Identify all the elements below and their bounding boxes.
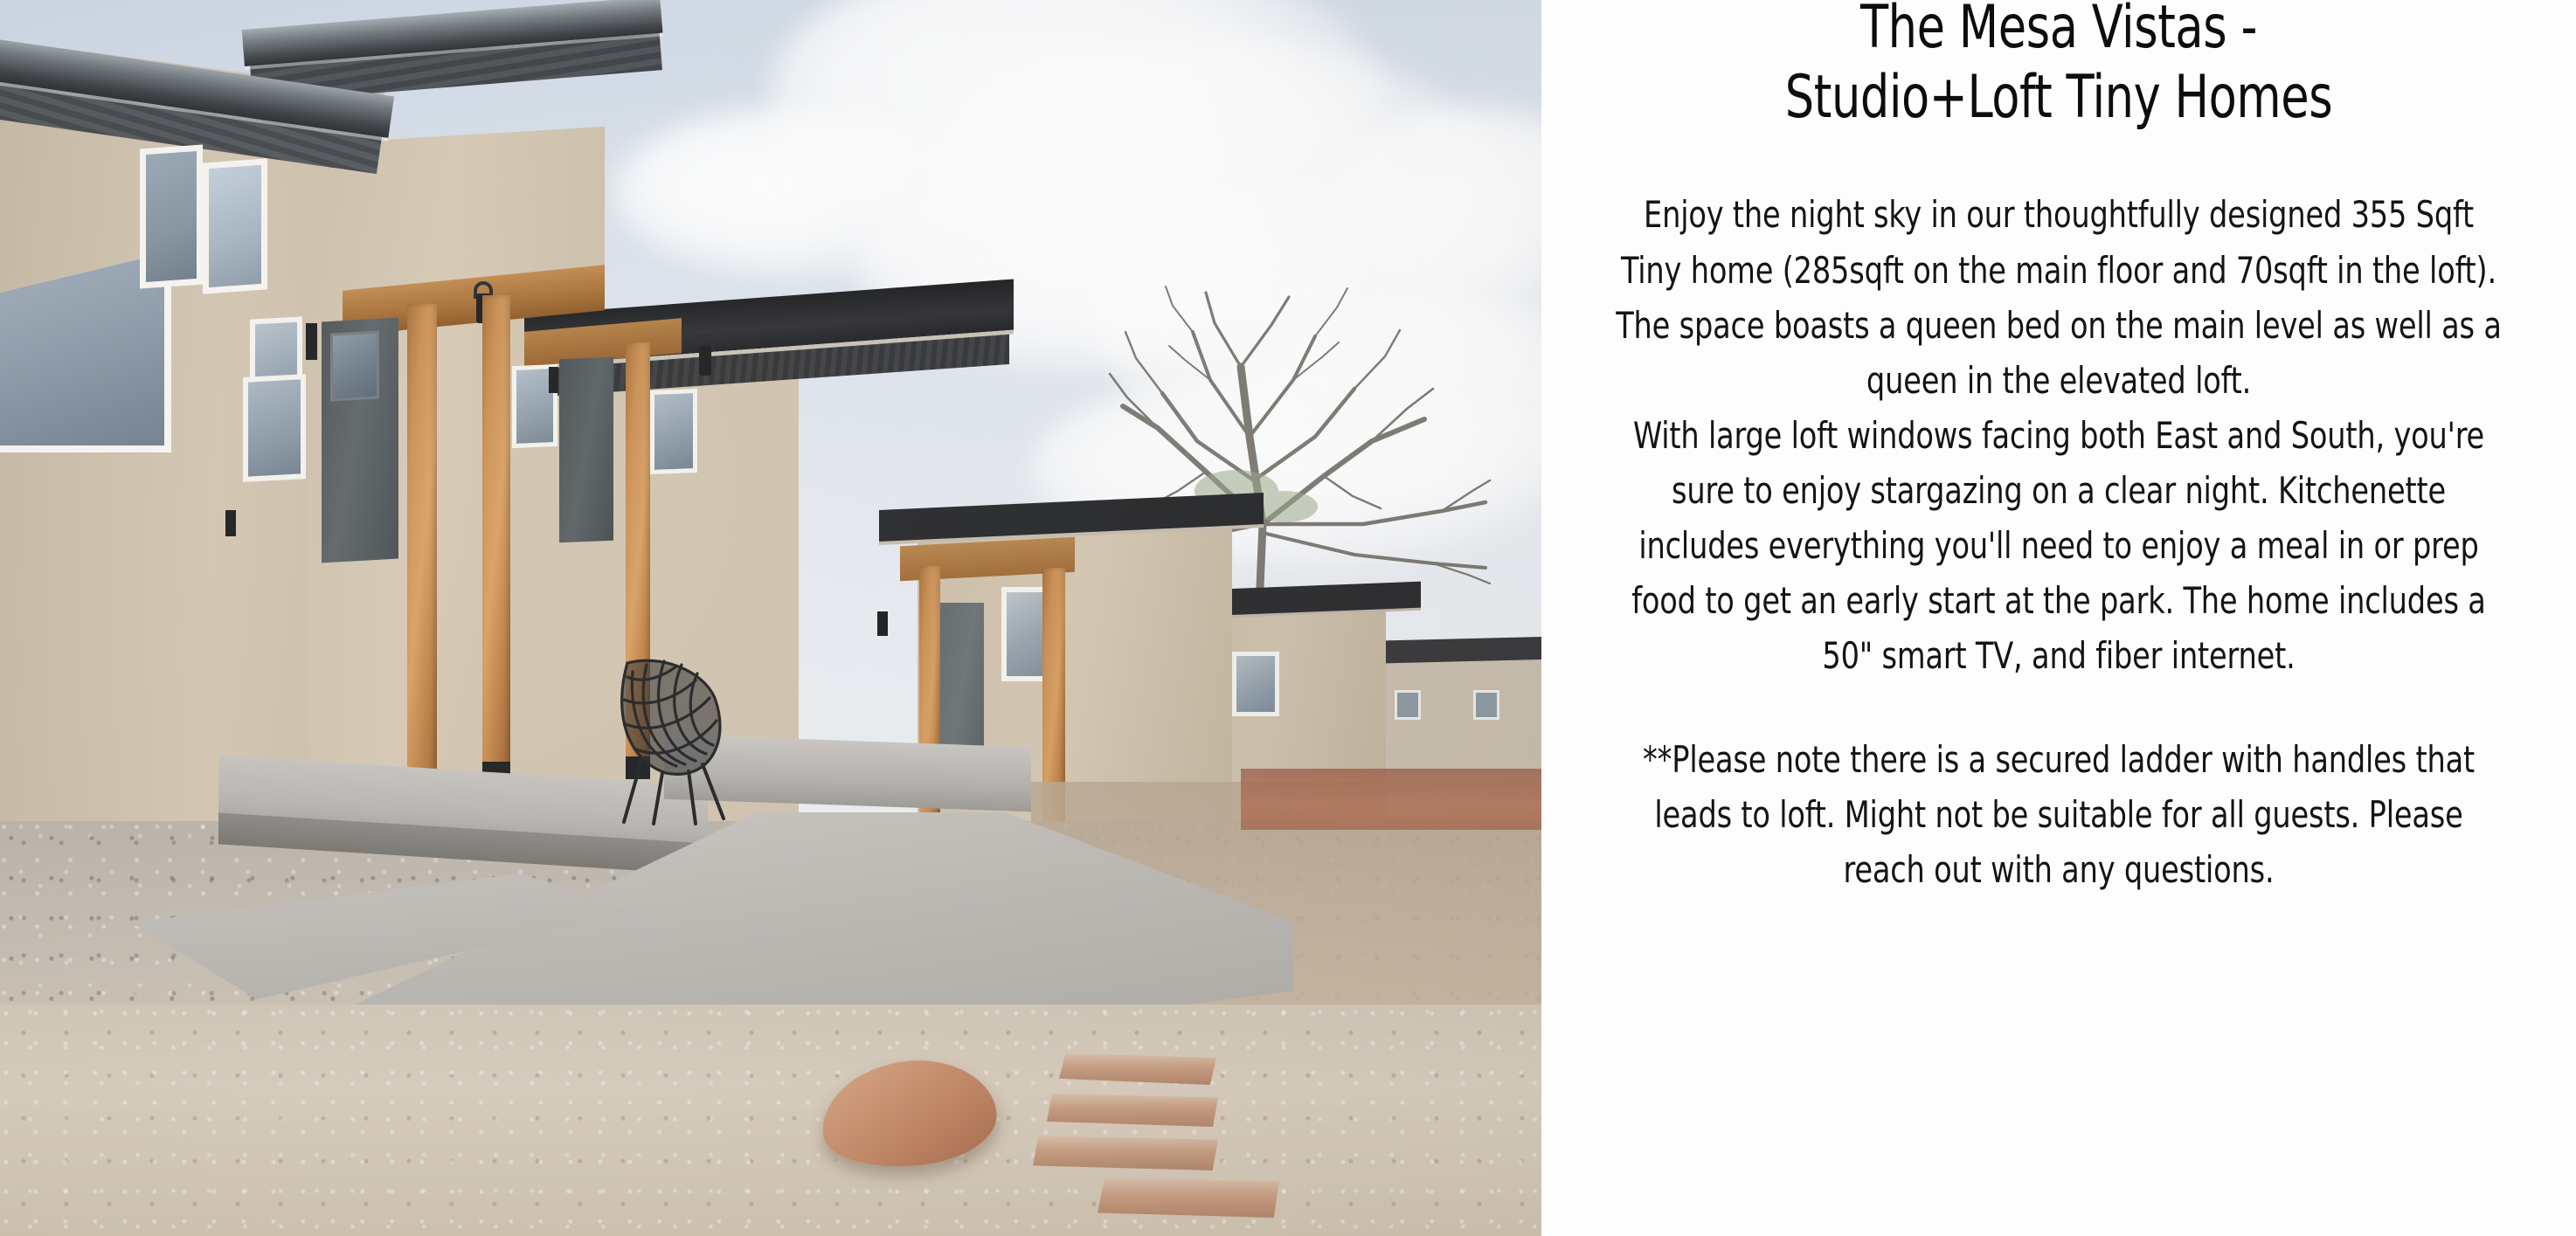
flagstone-step	[1098, 1177, 1279, 1218]
red-dirt-berm	[1241, 769, 1541, 830]
wood-porch-post	[482, 295, 510, 784]
acapulco-chair	[612, 651, 751, 825]
listing-details-panel: The Mesa Vistas - Studio+Loft Tiny Homes…	[1541, 0, 2576, 1236]
flagstone-step	[1033, 1136, 1218, 1170]
background-building-window	[1473, 690, 1499, 720]
listing-photo[interactable]	[0, 0, 1541, 1236]
page-title: The Mesa Vistas - Studio+Loft Tiny Homes	[1633, 0, 2484, 133]
outlet-icon	[225, 510, 236, 536]
cloud	[612, 105, 979, 280]
wall-sconce-icon	[877, 611, 888, 636]
pendant-light-icon	[699, 346, 711, 376]
listing-page: The Mesa Vistas - Studio+Loft Tiny Homes…	[0, 0, 2576, 1236]
loft-window	[140, 144, 203, 288]
background-building-window	[1395, 690, 1421, 720]
wood-porch-post	[407, 304, 437, 819]
window	[243, 374, 306, 482]
wall-sconce-icon	[306, 323, 317, 360]
door-glass-lite	[330, 330, 379, 401]
sand-foreground	[0, 1005, 1541, 1236]
window	[650, 389, 697, 474]
loft-window	[203, 158, 267, 293]
wall-sconce-icon	[549, 367, 558, 393]
window	[1232, 652, 1279, 716]
description-paragraph-2: With large loft windows facing both East…	[1614, 408, 2504, 683]
front-door[interactable]	[559, 357, 613, 543]
description-paragraph-1: Enjoy the night sky in our thoughtfully …	[1614, 187, 2504, 407]
description-paragraph-3: **Please note there is a secured ladder …	[1614, 732, 2504, 897]
flagstone-step	[1047, 1094, 1218, 1127]
